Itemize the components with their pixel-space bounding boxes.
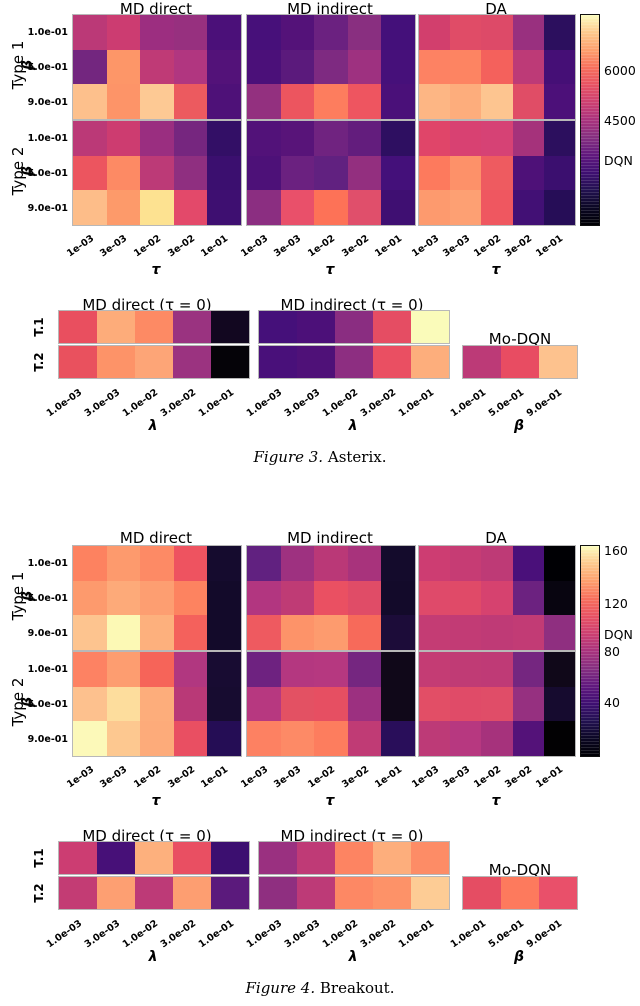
heatmap-cell xyxy=(207,50,241,85)
heatmap-cell xyxy=(450,581,481,616)
heatmap-cell xyxy=(314,84,348,119)
heatmap-cell xyxy=(513,50,544,85)
heatmap-cell xyxy=(107,615,141,650)
x-axis-label-tau-da-bk: τ xyxy=(418,793,574,809)
heatmap-cell xyxy=(207,84,241,119)
heatmap-cell xyxy=(59,877,97,909)
heatmap-cell xyxy=(419,84,450,119)
figure-caption-lead-bk: Figure 4. xyxy=(246,979,316,997)
heatmap-cell xyxy=(107,50,141,85)
heatmap-cell xyxy=(107,721,141,756)
heatmap-md-direct-type2-bk[interactable] xyxy=(72,651,242,757)
heatmap-cell xyxy=(381,546,415,581)
heatmap-cell xyxy=(544,581,575,616)
heatmap-cell xyxy=(481,121,512,156)
x-axis-label-tau-md-indirect: τ xyxy=(246,262,414,278)
heatmap-cell xyxy=(107,156,141,191)
heatmap-cell xyxy=(314,581,348,616)
strip-md-indirect-tau0-t2[interactable] xyxy=(258,345,450,379)
heatmap-md-direct-type2[interactable] xyxy=(72,120,242,226)
heatmap-cell xyxy=(247,721,281,756)
colorbar-tick-label: 120 xyxy=(604,596,628,611)
y-tick-type1-1: 5.0e-01 xyxy=(20,62,68,73)
heatmap-cell xyxy=(247,121,281,156)
heatmap-cell xyxy=(73,721,107,756)
x-axis-label-tau-md-direct: τ xyxy=(72,262,240,278)
heatmap-cell xyxy=(207,687,241,722)
heatmap-cell xyxy=(281,190,315,225)
heatmap-md-indirect-type2[interactable] xyxy=(246,120,416,226)
heatmap-cell xyxy=(281,546,315,581)
heatmap-cell xyxy=(173,877,211,909)
heatmap-cell xyxy=(348,652,382,687)
figure-caption-text-bk: Breakout. xyxy=(320,979,395,997)
strip-md-direct-tau0-t2-bk[interactable] xyxy=(58,876,250,910)
heatmap-cell xyxy=(297,346,335,378)
heatmap-cell xyxy=(73,15,107,50)
heatmap-cell xyxy=(348,687,382,722)
x-axis-label-tau-md-direct-bk: τ xyxy=(72,793,240,809)
heatmap-cell xyxy=(381,50,415,85)
colorbar-asterix[interactable] xyxy=(580,14,600,226)
heatmap-cell xyxy=(513,15,544,50)
row-label-t2-md-direct: T.2 xyxy=(32,347,46,377)
heatmap-cell xyxy=(135,877,173,909)
heatmap-cell xyxy=(335,311,373,343)
row-label-t1-md-direct-bk: T.1 xyxy=(32,843,46,873)
heatmap-cell xyxy=(247,546,281,581)
heatmap-cell xyxy=(247,615,281,650)
heatmap-cell xyxy=(207,546,241,581)
figure-caption-breakout: Figure 4. Breakout. xyxy=(0,979,640,997)
heatmap-cell xyxy=(211,842,249,874)
heatmap-cell xyxy=(259,877,297,909)
colorbar-tick-label: 4500 xyxy=(604,113,636,128)
heatmap-cell xyxy=(513,156,544,191)
y-tick-bk-type1-2: 9.0e-01 xyxy=(20,628,68,639)
heatmap-cell xyxy=(174,84,208,119)
heatmap-cell xyxy=(348,581,382,616)
heatmap-cell xyxy=(173,346,211,378)
heatmap-cell xyxy=(314,615,348,650)
heatmap-cell xyxy=(247,190,281,225)
heatmap-cell xyxy=(481,84,512,119)
heatmap-cell xyxy=(335,842,373,874)
heatmap-cell xyxy=(207,581,241,616)
heatmap-cell xyxy=(297,842,335,874)
heatmap-md-direct-type1-bk[interactable] xyxy=(72,545,242,651)
heatmap-cell xyxy=(281,121,315,156)
heatmap-cell xyxy=(411,877,449,909)
heatmap-cell xyxy=(539,346,577,378)
heatmap-cell xyxy=(247,15,281,50)
colorbar-tick-label: 6000 xyxy=(604,63,636,78)
heatmap-cell xyxy=(73,190,107,225)
heatmap-cell xyxy=(314,50,348,85)
heatmap-cell xyxy=(281,581,315,616)
heatmap-cell xyxy=(450,721,481,756)
heatmap-cell xyxy=(97,842,135,874)
heatmap-cell xyxy=(97,311,135,343)
heatmap-cell xyxy=(207,615,241,650)
heatmap-cell xyxy=(247,652,281,687)
heatmap-cell xyxy=(450,687,481,722)
heatmap-cell xyxy=(140,652,174,687)
heatmap-cell xyxy=(259,311,297,343)
heatmap-cell xyxy=(140,15,174,50)
heatmap-cell xyxy=(381,156,415,191)
heatmap-cell xyxy=(211,877,249,909)
heatmap-cell xyxy=(247,687,281,722)
heatmap-cell xyxy=(281,84,315,119)
heatmap-cell xyxy=(419,687,450,722)
heatmap-cell xyxy=(140,50,174,85)
heatmap-cell xyxy=(419,581,450,616)
figure-caption-text: Asterix. xyxy=(328,448,387,466)
figure-caption-asterix: Figure 3. Asterix. xyxy=(0,448,640,466)
y-tick-bk-type1-1: 5.0e-01 xyxy=(20,593,68,604)
heatmap-md-direct-type1[interactable] xyxy=(72,14,242,120)
row-label-t1-md-direct: T.1 xyxy=(32,312,46,342)
y-tick-type2-1: 5.0e-01 xyxy=(20,168,68,179)
heatmap-cell xyxy=(140,581,174,616)
heatmap-cell xyxy=(174,121,208,156)
strip-mo-dqn-bk[interactable] xyxy=(462,876,578,910)
heatmap-cell xyxy=(135,311,173,343)
heatmap-cell xyxy=(419,50,450,85)
heatmap-cell xyxy=(348,50,382,85)
heatmap-cell xyxy=(335,346,373,378)
heatmap-cell xyxy=(174,652,208,687)
colorbar-stripes xyxy=(581,15,599,225)
heatmap-cell xyxy=(381,121,415,156)
heatmap-cell xyxy=(281,615,315,650)
heatmap-cell xyxy=(297,877,335,909)
heatmap-cell xyxy=(419,121,450,156)
x-axis-label-lambda-md-direct-tau0: λ xyxy=(58,418,248,434)
heatmap-cell xyxy=(381,615,415,650)
heatmap-cell xyxy=(544,546,575,581)
heatmap-cell xyxy=(544,687,575,722)
heatmap-cell xyxy=(140,84,174,119)
x-axis-label-lambda-md-indirect-tau0: λ xyxy=(258,418,448,434)
strip-mo-dqn[interactable] xyxy=(462,345,578,379)
heatmap-cell xyxy=(544,190,575,225)
y-tick-type1-2: 9.0e-01 xyxy=(20,97,68,108)
heatmap-cell xyxy=(481,687,512,722)
heatmap-cell xyxy=(501,346,539,378)
x-axis-label-tau-da: τ xyxy=(418,262,574,278)
heatmap-cell xyxy=(207,156,241,191)
heatmap-cell xyxy=(348,721,382,756)
colorbar-tick-label: 160 xyxy=(604,543,628,558)
heatmap-cell xyxy=(174,15,208,50)
heatmap-cell xyxy=(450,546,481,581)
heatmap-cell xyxy=(140,156,174,191)
heatmap-cell xyxy=(73,121,107,156)
heatmap-cell xyxy=(513,190,544,225)
strip-md-indirect-tau0-t1[interactable] xyxy=(258,310,450,344)
x-axis-label-tau-md-indirect-bk: τ xyxy=(246,793,414,809)
heatmap-cell xyxy=(281,50,315,85)
heatmap-cell xyxy=(419,190,450,225)
y-tick-type1-0: 1.0e-01 xyxy=(20,27,68,38)
heatmap-cell xyxy=(544,615,575,650)
heatmap-cell xyxy=(544,721,575,756)
heatmap-cell xyxy=(140,615,174,650)
heatmap-cell xyxy=(59,842,97,874)
colorbar-stripes-bk xyxy=(581,546,599,756)
y-tick-bk-type2-0: 1.0e-01 xyxy=(20,664,68,675)
heatmap-cell xyxy=(381,190,415,225)
heatmap-cell xyxy=(513,652,544,687)
heatmap-cell xyxy=(107,121,141,156)
heatmap-cell xyxy=(107,84,141,119)
x-axis-label-lambda-md-direct-tau0-bk: λ xyxy=(58,949,248,965)
heatmap-cell xyxy=(174,581,208,616)
heatmap-cell xyxy=(314,156,348,191)
heatmap-cell xyxy=(314,687,348,722)
x-axis-label-beta-mo-dqn-bk: β xyxy=(462,949,576,965)
heatmap-cell xyxy=(73,50,107,85)
heatmap-cell xyxy=(174,50,208,85)
heatmap-cell xyxy=(381,652,415,687)
heatmap-da-type2-bk[interactable] xyxy=(418,651,576,757)
heatmap-cell xyxy=(140,721,174,756)
heatmap-cell xyxy=(381,15,415,50)
heatmap-cell xyxy=(259,842,297,874)
heatmap-cell xyxy=(97,877,135,909)
heatmap-cell xyxy=(107,546,141,581)
heatmap-cell xyxy=(539,877,577,909)
heatmap-cell xyxy=(419,721,450,756)
heatmap-md-indirect-type2-bk[interactable] xyxy=(246,651,416,757)
heatmap-cell xyxy=(281,721,315,756)
heatmap-md-indirect-type1-bk[interactable] xyxy=(246,545,416,651)
heatmap-cell xyxy=(207,121,241,156)
colorbar-breakout[interactable] xyxy=(580,545,600,757)
heatmap-cell xyxy=(174,190,208,225)
colorbar-tick-label: 80 xyxy=(604,644,620,659)
y-tick-bk-type2-1: 5.0e-01 xyxy=(20,699,68,710)
heatmap-cell xyxy=(481,156,512,191)
strip-md-direct-tau0-t2[interactable] xyxy=(58,345,250,379)
heatmap-cell xyxy=(481,581,512,616)
heatmap-cell xyxy=(207,721,241,756)
heatmap-cell xyxy=(450,652,481,687)
heatmap-cell xyxy=(450,615,481,650)
heatmap-cell xyxy=(481,721,512,756)
heatmap-cell xyxy=(481,190,512,225)
heatmap-cell xyxy=(450,50,481,85)
heatmap-cell xyxy=(73,652,107,687)
heatmap-cell xyxy=(501,877,539,909)
heatmap-cell xyxy=(73,546,107,581)
heatmap-cell xyxy=(373,346,411,378)
heatmap-cell xyxy=(513,581,544,616)
heatmap-cell xyxy=(348,121,382,156)
heatmap-cell xyxy=(544,84,575,119)
heatmap-cell xyxy=(450,15,481,50)
heatmap-cell xyxy=(247,156,281,191)
heatmap-da-type1-bk[interactable] xyxy=(418,545,576,651)
heatmap-cell xyxy=(513,121,544,156)
heatmap-cell xyxy=(411,842,449,874)
heatmap-cell xyxy=(544,156,575,191)
heatmap-cell xyxy=(211,346,249,378)
figure-breakout: MD direct MD indirect DA Type 1 Type 2 β… xyxy=(0,505,640,1006)
heatmap-cell xyxy=(73,84,107,119)
heatmap-cell xyxy=(544,50,575,85)
heatmap-cell xyxy=(247,581,281,616)
heatmap-cell xyxy=(411,311,449,343)
heatmap-cell xyxy=(513,615,544,650)
heatmap-md-indirect-type1[interactable] xyxy=(246,14,416,120)
heatmap-cell xyxy=(281,652,315,687)
heatmap-cell xyxy=(314,190,348,225)
strip-md-indirect-tau0-t1-bk[interactable] xyxy=(258,841,450,875)
heatmap-cell xyxy=(174,687,208,722)
heatmap-da-type1[interactable] xyxy=(418,14,576,120)
heatmap-cell xyxy=(450,156,481,191)
heatmap-cell xyxy=(348,84,382,119)
heatmap-cell xyxy=(411,346,449,378)
row-label-t2-md-direct-bk: T.2 xyxy=(32,878,46,908)
heatmap-cell xyxy=(481,615,512,650)
heatmap-cell xyxy=(107,652,141,687)
y-tick-type2-2: 9.0e-01 xyxy=(20,203,68,214)
figure-asterix: MD direct MD indirect DA Type 1 Type 2 β… xyxy=(0,0,640,500)
heatmap-cell xyxy=(348,546,382,581)
heatmap-cell xyxy=(381,84,415,119)
heatmap-cell xyxy=(207,652,241,687)
heatmap-cell xyxy=(107,687,141,722)
heatmap-cell xyxy=(513,721,544,756)
heatmap-cell xyxy=(140,546,174,581)
y-tick-bk-type2-2: 9.0e-01 xyxy=(20,734,68,745)
strip-md-direct-tau0-t1[interactable] xyxy=(58,310,250,344)
heatmap-cell xyxy=(513,84,544,119)
heatmap-cell xyxy=(450,84,481,119)
heatmap-cell xyxy=(481,652,512,687)
heatmap-cell xyxy=(73,581,107,616)
heatmap-cell xyxy=(247,84,281,119)
heatmap-cell xyxy=(513,687,544,722)
heatmap-cell xyxy=(59,311,97,343)
heatmap-cell xyxy=(348,190,382,225)
heatmap-cell xyxy=(314,721,348,756)
heatmap-cell xyxy=(544,121,575,156)
colorbar-tick-label: DQN xyxy=(604,627,633,642)
x-axis-label-beta-mo-dqn: β xyxy=(462,418,576,434)
heatmap-cell xyxy=(281,156,315,191)
heatmap-cell xyxy=(381,721,415,756)
heatmap-cell xyxy=(135,842,173,874)
heatmap-cell xyxy=(107,15,141,50)
heatmap-cell xyxy=(419,615,450,650)
heatmap-cell xyxy=(73,687,107,722)
figure-caption-lead: Figure 3. xyxy=(253,448,323,466)
heatmap-cell xyxy=(135,346,173,378)
heatmap-cell xyxy=(314,546,348,581)
heatmap-cell xyxy=(281,687,315,722)
heatmap-cell xyxy=(381,687,415,722)
heatmap-cell xyxy=(174,546,208,581)
strip-md-direct-tau0-t1-bk[interactable] xyxy=(58,841,250,875)
heatmap-cell xyxy=(314,652,348,687)
heatmap-cell xyxy=(140,190,174,225)
heatmap-cell xyxy=(314,15,348,50)
heatmap-cell xyxy=(544,15,575,50)
colorbar-tick-label: DQN xyxy=(604,153,633,168)
heatmap-cell xyxy=(281,15,315,50)
heatmap-cell xyxy=(211,311,249,343)
heatmap-da-type2[interactable] xyxy=(418,120,576,226)
heatmap-cell xyxy=(140,687,174,722)
heatmap-cell xyxy=(450,121,481,156)
heatmap-cell xyxy=(419,15,450,50)
heatmap-cell xyxy=(297,311,335,343)
heatmap-cell xyxy=(373,877,411,909)
heatmap-cell xyxy=(59,346,97,378)
heatmap-cell xyxy=(544,652,575,687)
heatmap-cell xyxy=(173,311,211,343)
heatmap-cell xyxy=(140,121,174,156)
heatmap-cell xyxy=(207,190,241,225)
heatmap-cell xyxy=(107,581,141,616)
heatmap-cell xyxy=(335,877,373,909)
strip-md-indirect-tau0-t2-bk[interactable] xyxy=(258,876,450,910)
heatmap-cell xyxy=(373,311,411,343)
heatmap-cell xyxy=(373,842,411,874)
heatmap-cell xyxy=(381,581,415,616)
y-tick-type2-0: 1.0e-01 xyxy=(20,133,68,144)
colorbar-tick-label: 40 xyxy=(604,695,620,710)
heatmap-cell xyxy=(97,346,135,378)
heatmap-cell xyxy=(314,121,348,156)
heatmap-cell xyxy=(207,15,241,50)
heatmap-cell xyxy=(73,615,107,650)
heatmap-cell xyxy=(419,156,450,191)
heatmap-cell xyxy=(73,156,107,191)
heatmap-cell xyxy=(419,652,450,687)
heatmap-cell xyxy=(481,546,512,581)
heatmap-cell xyxy=(450,190,481,225)
heatmap-cell xyxy=(463,346,501,378)
heatmap-cell xyxy=(463,877,501,909)
heatmap-cell xyxy=(259,346,297,378)
heatmap-cell xyxy=(348,15,382,50)
heatmap-cell xyxy=(513,546,544,581)
heatmap-cell xyxy=(174,615,208,650)
heatmap-cell xyxy=(173,842,211,874)
heatmap-cell xyxy=(348,156,382,191)
heatmap-cell xyxy=(174,721,208,756)
heatmap-cell xyxy=(481,15,512,50)
heatmap-cell xyxy=(107,190,141,225)
heatmap-cell xyxy=(481,50,512,85)
y-tick-bk-type1-0: 1.0e-01 xyxy=(20,558,68,569)
heatmap-cell xyxy=(348,615,382,650)
heatmap-cell xyxy=(419,546,450,581)
x-axis-label-lambda-md-indirect-tau0-bk: λ xyxy=(258,949,448,965)
heatmap-cell xyxy=(247,50,281,85)
heatmap-cell xyxy=(174,156,208,191)
